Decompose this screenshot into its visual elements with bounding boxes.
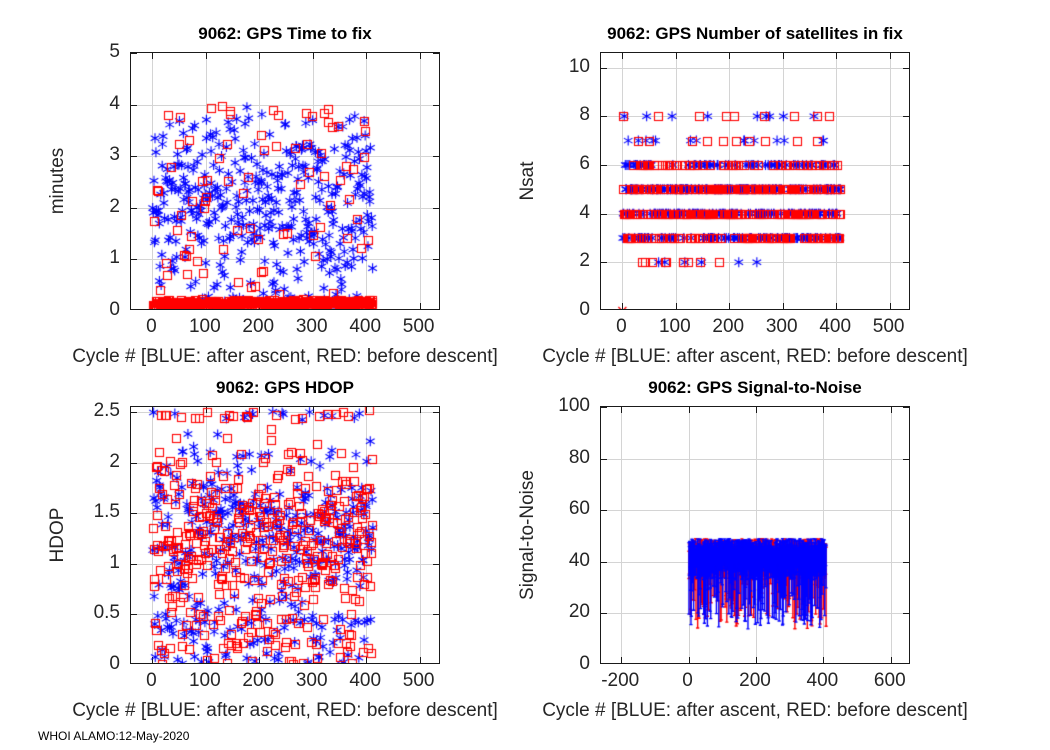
y-tick-label: 20 [0, 601, 590, 623]
plot-data-canvas-nsat [601, 53, 910, 310]
plot-data-canvas-hdop [131, 407, 440, 664]
x-tick-label: 400 [807, 670, 839, 692]
y-tick-label: 4 [0, 202, 590, 224]
x-tick-label: 0 [616, 316, 627, 338]
plot-data-canvas-snr [601, 407, 910, 664]
x-tick-label: 0 [682, 670, 693, 692]
y-axis-label-snr: Signal-to-Noise [517, 470, 539, 600]
plot-panel-nsat: 9062: GPS Number of satellites in fix [600, 52, 910, 310]
plot-axes-snr [600, 406, 910, 664]
x-tick-label: 100 [659, 316, 691, 338]
y-tick-label: 100 [0, 395, 590, 417]
y-tick-label: 6 [0, 153, 590, 175]
x-axis-label-hdop: Cycle # [BLUE: after ascent, RED: before… [72, 700, 498, 722]
plot-axes-nsat [600, 52, 910, 310]
x-tick-label: 400 [819, 316, 851, 338]
y-tick-label: 60 [0, 498, 590, 520]
y-tick-label: 40 [0, 550, 590, 572]
plot-title-time-to-fix: 9062: GPS Time to fix [130, 24, 440, 44]
plot-panel-hdop: 9062: GPS HDOP [130, 406, 440, 664]
y-axis-label-nsat: Nsat [517, 161, 539, 200]
x-tick-label: 200 [712, 316, 744, 338]
x-tick-label: -200 [601, 670, 639, 692]
x-axis-label-nsat: Cycle # [BLUE: after ascent, RED: before… [542, 346, 968, 368]
x-axis-label-time-to-fix: Cycle # [BLUE: after ascent, RED: before… [72, 346, 498, 368]
x-tick-label: 500 [873, 316, 905, 338]
y-tick-label: 0 [0, 299, 590, 321]
plot-title-nsat: 9062: GPS Number of satellites in fix [600, 24, 910, 44]
x-tick-label: 200 [739, 670, 771, 692]
y-tick-label: 80 [0, 447, 590, 469]
x-tick-label: 600 [874, 670, 906, 692]
y-tick-label: 8 [0, 104, 590, 126]
y-tick-label: 0 [0, 653, 590, 675]
plot-axes-hdop [130, 406, 440, 664]
matlab-figure: 0123450100200300400500minutesCycle # [BL… [0, 0, 1050, 750]
plot-panel-snr: 9062: GPS Signal-to-Noise [600, 406, 910, 664]
plot-title-snr: 9062: GPS Signal-to-Noise [600, 378, 910, 398]
y-tick-label: 10 [0, 56, 590, 78]
x-axis-label-snr: Cycle # [BLUE: after ascent, RED: before… [542, 700, 968, 722]
figure-footer-stamp: WHOI ALAMO:12-May-2020 [38, 729, 189, 743]
x-tick-label: 300 [766, 316, 798, 338]
y-tick-label: 2 [0, 250, 590, 272]
